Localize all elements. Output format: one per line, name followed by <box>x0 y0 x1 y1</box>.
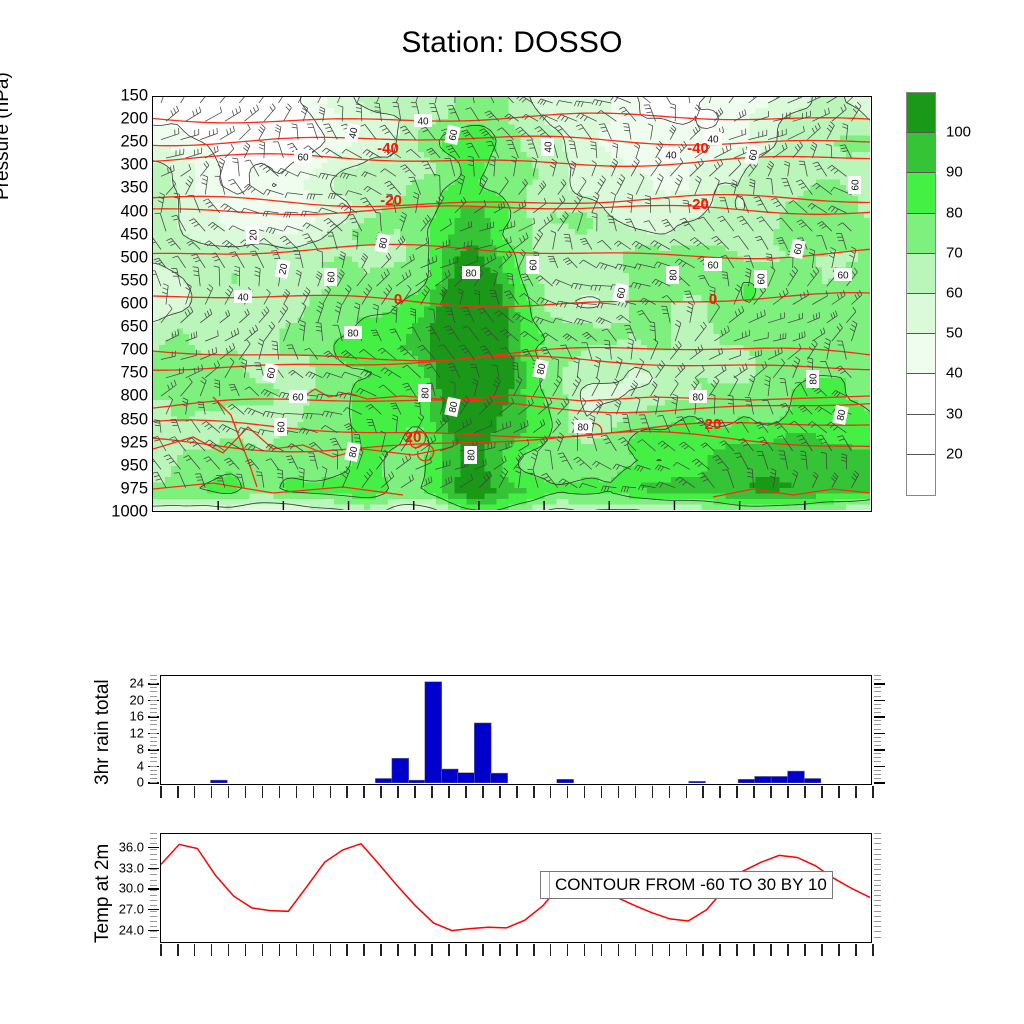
rain-minor-tick-right <box>874 691 881 692</box>
colorbar-label-50: 50 <box>946 325 963 342</box>
rain-x-tick <box>177 786 179 798</box>
colorbar-label-20: 20 <box>946 445 963 462</box>
main-y-tick-750: 750 <box>64 364 148 383</box>
rain-minor-tick-right <box>874 778 881 779</box>
temp-minor-tick <box>150 864 157 865</box>
colorbar-cell-6 <box>907 334 935 374</box>
rain-chart <box>161 676 870 783</box>
rain-bar <box>210 780 227 783</box>
rain-minor-tick-right <box>874 770 881 771</box>
temp-minor-tick-right <box>874 931 881 932</box>
rain-bar <box>441 769 458 783</box>
temp-minor-tick <box>150 838 157 839</box>
rain-minor-tick-right <box>874 696 881 697</box>
colorbar-cell-3 <box>907 214 935 254</box>
temp-minor-tick-right <box>874 916 881 917</box>
rain-y-tick-0: 0 <box>112 775 144 790</box>
rain-bar <box>804 778 821 783</box>
rain-x-tick <box>363 786 365 798</box>
rain-minor-tick <box>150 700 157 701</box>
rain-minor-tick <box>150 733 157 734</box>
temp-minor-tick-right <box>874 864 881 865</box>
temp-x-tick <box>177 944 179 956</box>
page-title: Station: DOSSO <box>0 26 1024 60</box>
colorbar-label-70: 70 <box>946 244 963 261</box>
rain-x-tick <box>686 786 688 798</box>
rain-minor-tick <box>150 679 157 680</box>
colorbar-label-60: 60 <box>946 285 963 302</box>
rain-minor-tick <box>150 782 157 783</box>
temp-x-tick <box>482 944 484 956</box>
rain-minor-tick-right <box>874 687 881 688</box>
temp-x-tick <box>279 944 281 956</box>
temp-minor-tick <box>150 905 157 906</box>
rain-tick-mark-right <box>874 749 885 751</box>
rain-minor-tick-right <box>874 737 881 738</box>
rain-x-tick <box>669 786 671 798</box>
rain-minor-tick <box>150 675 157 676</box>
rain-x-tick <box>499 786 501 798</box>
rain-bar <box>474 723 491 783</box>
rain-minor-tick-right <box>874 745 881 746</box>
temp-x-tick <box>313 944 315 956</box>
temp-minor-tick <box>150 890 157 891</box>
rain-minor-tick <box>150 729 157 730</box>
temp-x-tick <box>601 944 603 956</box>
main-y-axis-ticks: 1502002503003504004505005506006507007508… <box>64 88 148 520</box>
rain-x-tick <box>414 786 416 798</box>
temp-y-tick-36.0: 36.0 <box>96 839 144 854</box>
rain-x-tick <box>228 786 230 798</box>
main-y-tick-700: 700 <box>64 341 148 360</box>
rain-x-tick <box>296 786 298 798</box>
temp-x-tick <box>702 944 704 956</box>
rain-minor-tick-right <box>874 729 881 730</box>
temp-x-tick <box>262 944 264 956</box>
rain-bar <box>689 781 706 783</box>
main-y-tick-975: 975 <box>64 479 148 498</box>
temp-minor-tick <box>150 880 157 881</box>
rain-tick-mark-right <box>874 700 885 702</box>
temp-minor-tick-right <box>874 911 881 912</box>
main-y-tick-350: 350 <box>64 179 148 198</box>
rain-y-tick-24: 24 <box>112 676 144 691</box>
rain-x-tick <box>550 786 552 798</box>
temp-x-tick <box>228 944 230 956</box>
rain-bar <box>738 779 755 783</box>
rain-x-tick <box>330 786 332 798</box>
colorbar-cell-2 <box>907 173 935 213</box>
temp-x-tick <box>804 944 806 956</box>
rain-x-tick <box>313 786 315 798</box>
rain-minor-tick-right <box>874 708 881 709</box>
rain-bar <box>557 779 574 783</box>
rain-x-tick <box>719 786 721 798</box>
rain-minor-tick-right <box>874 757 881 758</box>
rain-x-tick <box>448 786 450 798</box>
main-y-axis-label: Pressure (hPa) <box>0 72 14 200</box>
rain-x-tick <box>245 786 247 798</box>
temp-x-tick <box>380 944 382 956</box>
temp-minor-tick-right <box>874 880 881 881</box>
temp-minor-tick <box>150 854 157 855</box>
temp-minor-tick <box>150 900 157 901</box>
colorbar-cell-4 <box>907 254 935 294</box>
temp-minor-tick-right <box>874 905 881 906</box>
temp-minor-tick-right <box>874 885 881 886</box>
temp-minor-tick-right <box>874 874 881 875</box>
rain-x-tick <box>346 786 348 798</box>
colorbar <box>906 92 936 496</box>
rain-x-tick <box>872 786 874 798</box>
rain-bar <box>375 778 392 783</box>
rain-minor-tick-right <box>874 679 881 680</box>
rain-x-tick <box>804 786 806 798</box>
rain-x-tick <box>787 786 789 798</box>
rain-minor-tick <box>150 757 157 758</box>
rain-minor-tick <box>150 770 157 771</box>
main-y-tick-925: 925 <box>64 433 148 452</box>
rain-minor-tick <box>150 687 157 688</box>
temp-x-tick <box>719 944 721 956</box>
rain-x-tick <box>601 786 603 798</box>
temp-x-tick <box>652 944 654 956</box>
main-y-tick-200: 200 <box>64 110 148 129</box>
rain-x-tick <box>821 786 823 798</box>
colorbar-label-80: 80 <box>946 204 963 221</box>
temp-x-tick <box>516 944 518 956</box>
rain-bar <box>458 773 475 783</box>
temp-x-tick <box>753 944 755 956</box>
temp-x-tick <box>584 944 586 956</box>
temp-x-tick <box>245 944 247 956</box>
rain-x-tick <box>652 786 654 798</box>
rain-minor-tick <box>150 778 157 779</box>
rain-minor-tick <box>150 766 157 767</box>
temp-y-tick-30.0: 30.0 <box>96 881 144 896</box>
rain-x-tick <box>279 786 281 798</box>
temp-minor-tick <box>150 921 157 922</box>
temp-minor-tick-right <box>874 859 881 860</box>
temp-minor-tick-right <box>874 838 881 839</box>
temp-minor-tick-right <box>874 869 881 870</box>
colorbar-cell-1 <box>907 133 935 173</box>
rain-minor-tick-right <box>874 704 881 705</box>
rain-x-tick <box>516 786 518 798</box>
temp-x-tick <box>669 944 671 956</box>
temp-x-tick <box>330 944 332 956</box>
temp-x-tick <box>194 944 196 956</box>
temp-minor-tick-right <box>874 854 881 855</box>
colorbar-label-100: 100 <box>946 124 971 141</box>
temp-x-tick <box>787 944 789 956</box>
temp-x-tick <box>431 944 433 956</box>
rain-bar <box>755 776 772 783</box>
temp-x-tick <box>618 944 620 956</box>
rain-x-tick <box>160 786 162 798</box>
colorbar-cell-0 <box>907 93 935 133</box>
rain-bar <box>771 776 788 783</box>
rain-bar <box>425 682 442 783</box>
rain-minor-tick-right <box>874 774 881 775</box>
rain-tick-mark-right <box>874 733 885 735</box>
rain-x-tick <box>533 786 535 798</box>
rain-minor-tick-right <box>874 724 881 725</box>
rain-x-tick <box>753 786 755 798</box>
temp-x-tick <box>465 944 467 956</box>
rain-minor-tick <box>150 741 157 742</box>
rain-minor-tick-right <box>874 753 881 754</box>
rain-chart-frame <box>160 675 872 785</box>
main-y-tick-800: 800 <box>64 387 148 406</box>
rain-x-tick <box>855 786 857 798</box>
main-y-tick-300: 300 <box>64 156 148 175</box>
annotation-bar <box>546 872 550 898</box>
temp-minor-tick <box>150 911 157 912</box>
main-y-tick-450: 450 <box>64 225 148 244</box>
rain-x-tick <box>736 786 738 798</box>
rain-x-tick <box>397 786 399 798</box>
rain-y-tick-4: 4 <box>112 758 144 773</box>
temp-x-tick <box>872 944 874 956</box>
temp-minor-tick-right <box>874 921 881 922</box>
temp-x-tick <box>838 944 840 956</box>
temp-minor-tick <box>150 849 157 850</box>
temp-x-tick <box>533 944 535 956</box>
temp-minor-tick-right <box>874 843 881 844</box>
main-y-tick-650: 650 <box>64 318 148 337</box>
rain-tick-mark-right <box>874 716 885 718</box>
cross-section-plot: 4040406060202040608080606060606080808080… <box>153 97 870 510</box>
rain-tick-mark-right <box>874 766 885 768</box>
rain-x-tick <box>262 786 264 798</box>
rain-x-tick <box>482 786 484 798</box>
temp-x-tick <box>160 944 162 956</box>
temp-minor-tick <box>150 916 157 917</box>
rain-minor-tick <box>150 724 157 725</box>
temp-minor-tick-right <box>874 849 881 850</box>
rain-minor-tick-right <box>874 720 881 721</box>
temp-x-tick <box>414 944 416 956</box>
rain-minor-tick-right <box>874 741 881 742</box>
temp-minor-tick <box>150 931 157 932</box>
main-y-tick-150: 150 <box>64 87 148 106</box>
temp-minor-tick <box>150 833 157 834</box>
temp-x-tick <box>550 944 552 956</box>
rain-bar <box>491 773 508 783</box>
rain-minor-tick-right <box>874 675 881 676</box>
cross-section-panel: 4040406060202040608080606060606080808080… <box>152 96 872 512</box>
temp-x-tick <box>635 944 637 956</box>
temp-minor-tick-right <box>874 900 881 901</box>
temp-x-tick <box>770 944 772 956</box>
temp-y-tick-33.0: 33.0 <box>96 860 144 875</box>
main-y-tick-500: 500 <box>64 248 148 267</box>
rain-axis-label: 3hr rain total <box>92 679 114 785</box>
main-y-tick-600: 600 <box>64 295 148 314</box>
rain-y-tick-16: 16 <box>112 709 144 724</box>
colorbar-cell-9 <box>907 455 935 495</box>
rain-minor-tick <box>150 691 157 692</box>
rain-x-tick <box>838 786 840 798</box>
main-y-tick-950: 950 <box>64 456 148 475</box>
colorbar-cell-8 <box>907 415 935 455</box>
temp-x-tick <box>363 944 365 956</box>
temp-x-tick <box>448 944 450 956</box>
temp-minor-tick-right <box>874 937 881 938</box>
temp-x-tick <box>686 944 688 956</box>
rain-x-tick <box>431 786 433 798</box>
rain-minor-tick <box>150 720 157 721</box>
colorbar-cell-5 <box>907 294 935 334</box>
rain-x-tick <box>194 786 196 798</box>
rain-x-tick <box>635 786 637 798</box>
temp-x-tick <box>211 944 213 956</box>
temp-x-tick <box>397 944 399 956</box>
rain-minor-tick <box>150 712 157 713</box>
rain-tick-mark-right <box>874 782 885 784</box>
contour-annotation: CONTOUR FROM -60 TO 30 BY 10 <box>540 871 833 899</box>
rain-minor-tick <box>150 745 157 746</box>
temp-x-tick <box>499 944 501 956</box>
temp-minor-tick <box>150 885 157 886</box>
rain-minor-tick <box>150 704 157 705</box>
temp-minor-tick <box>150 859 157 860</box>
temp-minor-tick <box>150 937 157 938</box>
colorbar-label-90: 90 <box>946 164 963 181</box>
rain-bar <box>788 771 805 783</box>
rain-minor-tick <box>150 696 157 697</box>
main-y-tick-1000: 1000 <box>64 503 148 522</box>
rain-x-tick <box>211 786 213 798</box>
temp-minor-tick-right <box>874 833 881 834</box>
temp-x-tick <box>346 944 348 956</box>
rain-bar <box>392 758 409 783</box>
rain-minor-tick <box>150 737 157 738</box>
temp-x-tick <box>821 944 823 956</box>
temp-y-tick-27.0: 27.0 <box>96 901 144 916</box>
main-y-tick-400: 400 <box>64 202 148 221</box>
rain-x-tick <box>465 786 467 798</box>
colorbar-label-40: 40 <box>946 365 963 382</box>
colorbar-cell-7 <box>907 374 935 414</box>
rain-minor-tick <box>150 753 157 754</box>
main-y-tick-250: 250 <box>64 133 148 152</box>
temp-minor-tick-right <box>874 890 881 891</box>
cross-section-frame: 4040406060202040608080606060606080808080… <box>152 96 872 512</box>
main-y-tick-850: 850 <box>64 410 148 429</box>
temp-minor-tick <box>150 843 157 844</box>
rain-minor-tick-right <box>874 761 881 762</box>
rain-minor-tick <box>150 774 157 775</box>
main-y-tick-550: 550 <box>64 271 148 290</box>
temp-x-tick <box>736 944 738 956</box>
temp-minor-tick <box>150 895 157 896</box>
rain-y-tick-12: 12 <box>112 725 144 740</box>
rain-minor-tick <box>150 749 157 750</box>
temp-x-tick <box>567 944 569 956</box>
colorbar-label-30: 30 <box>946 405 963 422</box>
rain-x-tick <box>702 786 704 798</box>
rain-minor-tick-right <box>874 712 881 713</box>
temp-minor-tick-right <box>874 895 881 896</box>
temp-minor-tick-right <box>874 926 881 927</box>
rain-minor-tick <box>150 716 157 717</box>
rain-x-tick <box>618 786 620 798</box>
rain-y-tick-8: 8 <box>112 742 144 757</box>
rain-x-tick <box>567 786 569 798</box>
rain-minor-tick <box>150 683 157 684</box>
temp-minor-tick <box>150 874 157 875</box>
rain-x-tick <box>380 786 382 798</box>
temp-x-tick <box>855 944 857 956</box>
temp-minor-tick <box>150 926 157 927</box>
rain-x-tick <box>770 786 772 798</box>
rain-y-tick-20: 20 <box>112 692 144 707</box>
rain-bar <box>408 780 425 783</box>
temp-minor-tick <box>150 869 157 870</box>
rain-minor-tick <box>150 708 157 709</box>
temp-y-tick-24.0: 24.0 <box>96 922 144 937</box>
temp-x-tick <box>296 944 298 956</box>
annotation-text: CONTOUR FROM -60 TO 30 BY 10 <box>555 875 827 895</box>
rain-minor-tick <box>150 761 157 762</box>
rain-tick-mark-right <box>874 683 885 685</box>
rain-x-tick <box>584 786 586 798</box>
